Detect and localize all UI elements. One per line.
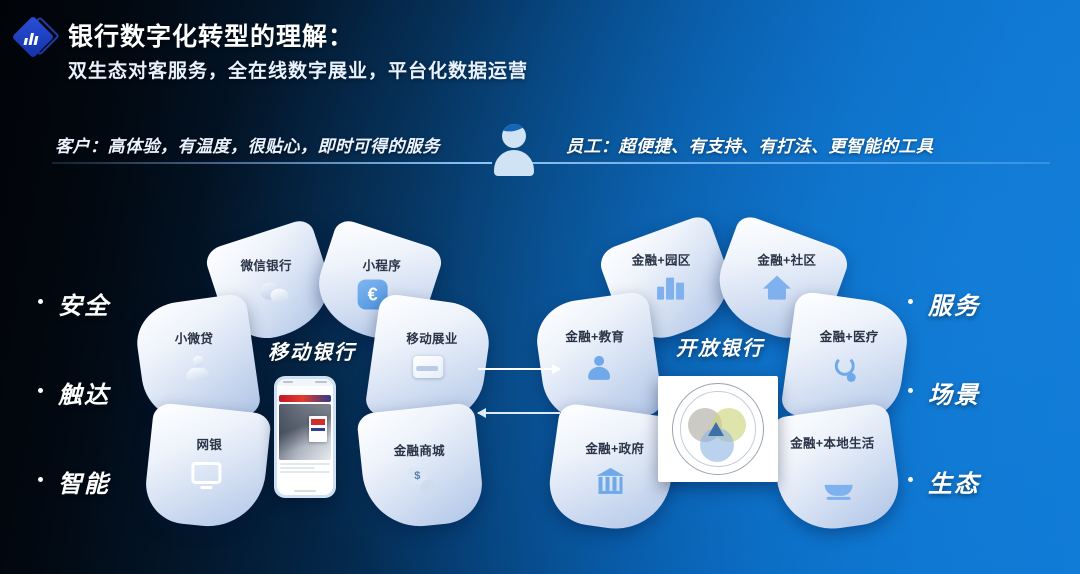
petal-finance-local-life[interactable]: 金融+本地生活 — [768, 402, 903, 536]
desktop-monitor-icon — [147, 462, 265, 484]
open-bank-venn-diagram — [658, 376, 778, 482]
petal-label: 金融+本地生活 — [772, 436, 892, 450]
petal-label: 小程序 — [326, 259, 438, 273]
petal-label: 金融+政府 — [555, 442, 675, 456]
petal-financial-mall[interactable]: 金融商城 — [356, 402, 486, 532]
page-title: 银行数字化转型的理解： — [68, 17, 354, 53]
open-bank-cluster: 金融+园区 金融+社区 金融+教育 金融+医疗 金融+政府 金融+本地生活 开放… — [540, 228, 900, 528]
mobile-bank-title: 移动银行 — [132, 336, 492, 365]
right-bullet-2: 生态 — [908, 464, 1048, 499]
customer-statement: 客户：高体验，有温度，很贴心，即时可得的服务 — [55, 132, 440, 157]
arrow-left-icon — [478, 412, 560, 414]
page-subtitle: 双生态对客服务，全在线数字展业，平台化数据运营 — [68, 56, 528, 83]
staff-statement: 员工：超便捷、有支持、有打法、更智能的工具 — [566, 132, 934, 157]
arrow-right-icon — [478, 368, 560, 370]
petal-label: 金融+园区 — [602, 253, 720, 267]
staff-underline — [530, 162, 1050, 164]
right-keyword-list: 服务 场景 生态 — [908, 286, 1048, 553]
local-life-icon — [779, 476, 899, 500]
government-building-icon — [550, 468, 670, 492]
petal-label: 网银 — [150, 438, 268, 452]
petal-label: 金融商城 — [360, 444, 478, 458]
user-avatar-icon — [492, 124, 536, 176]
right-bullet-1: 场景 — [908, 375, 1048, 410]
petal-internet-banking[interactable]: 网银 — [142, 402, 272, 532]
mobile-phone-app-mockup — [274, 376, 336, 498]
right-bullet-0: 服务 — [908, 286, 1048, 321]
persona-band: 客户：高体验，有温度，很贴心，即时可得的服务 员工：超便捷、有支持、有打法、更智… — [0, 126, 1080, 182]
brand-diamond-logo-icon — [14, 18, 54, 58]
payment-mall-icon — [363, 468, 481, 492]
petal-label: 微信银行 — [210, 259, 322, 273]
customer-underline — [52, 162, 492, 164]
petal-label: 金融+社区 — [728, 253, 846, 267]
mobile-bank-cluster: 微信银行 小程序 € 小微贷 移动展业 网银 金融商城 移动银行 — [132, 228, 492, 528]
slide-canvas: 银行数字化转型的理解： 双生态对客服务，全在线数字展业，平台化数据运营 客户：高… — [0, 0, 1080, 574]
open-bank-title: 开放银行 — [540, 332, 900, 361]
